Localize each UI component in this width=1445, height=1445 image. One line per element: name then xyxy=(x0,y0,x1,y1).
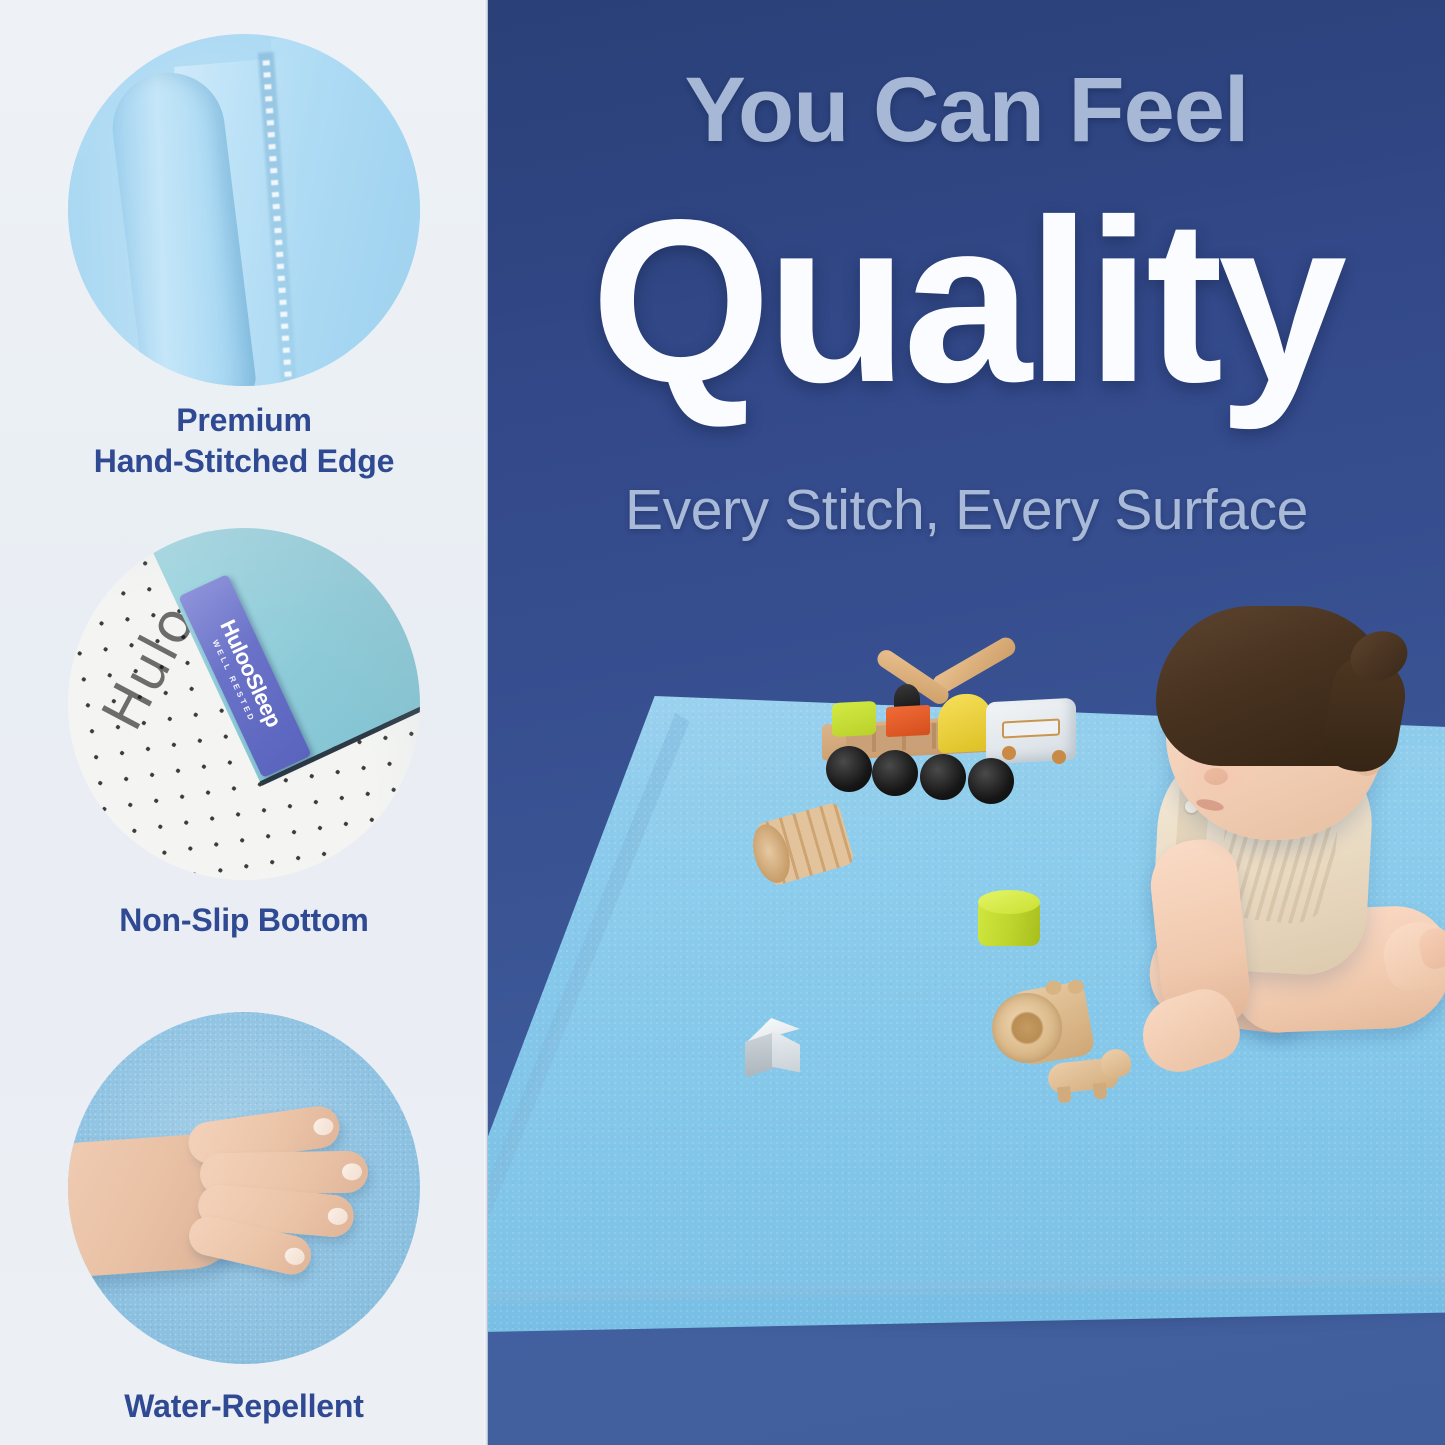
feature-caption-line-1: Non-Slip Bottom xyxy=(18,900,470,941)
hero-headline-line-2: Quality xyxy=(488,186,1445,418)
animal-leg xyxy=(1093,1082,1108,1099)
toddler-nose xyxy=(1204,768,1228,785)
orange-cargo-block xyxy=(886,705,930,737)
truck-wheel xyxy=(920,754,966,800)
truck-wheel xyxy=(826,746,872,792)
photo-vignette xyxy=(68,528,420,880)
animal-head xyxy=(1099,1048,1132,1079)
truck-wheel xyxy=(968,758,1014,804)
feature-caption: Water-Repellent xyxy=(0,1386,488,1427)
animal-leg xyxy=(1057,1086,1072,1103)
prism-left-face xyxy=(745,1032,775,1078)
hero-panel: You Can Feel Quality Every Stitch, Every… xyxy=(488,0,1445,1445)
feature-non-slip-bottom: HulooSl HulooSleep WELL RESTED Non-Slip … xyxy=(0,528,488,941)
prism-right-face xyxy=(772,1030,800,1076)
fingernail xyxy=(312,1117,334,1137)
truck-headlight-left xyxy=(1002,746,1016,760)
product-feature-image: Premium Hand-Stitched Edge HulooSl Huloo… xyxy=(0,0,1445,1445)
non-slip-bottom-photo: HulooSl HulooSleep WELL RESTED xyxy=(68,528,420,880)
fingernail xyxy=(342,1163,362,1180)
truck-wheel xyxy=(872,750,918,796)
feature-caption-line-1: Water-Repellent xyxy=(18,1386,470,1427)
stitched-edge-photo xyxy=(68,34,420,386)
feature-caption: Premium Hand-Stitched Edge xyxy=(0,400,488,482)
feature-caption-line-2: Hand-Stitched Edge xyxy=(18,441,470,482)
feature-water-repellent: Water-Repellent xyxy=(0,1012,488,1427)
water-repellent-photo xyxy=(68,1012,420,1364)
fingernail xyxy=(283,1245,306,1266)
feature-caption: Non-Slip Bottom xyxy=(0,900,488,941)
feature-caption-line-1: Premium xyxy=(18,400,470,441)
feature-column: Premium Hand-Stitched Edge HulooSl Huloo… xyxy=(0,0,488,1445)
excavator-yellow-pivot xyxy=(938,693,992,754)
fingernail xyxy=(327,1207,348,1226)
toy-white-triangle-block xyxy=(740,1018,800,1080)
hero-headline-line-1: You Can Feel xyxy=(488,64,1445,156)
toy-wooden-animal xyxy=(1046,1048,1135,1105)
product-scene xyxy=(488,600,1445,1445)
hero-subheadline: Every Stitch, Every Surface xyxy=(488,482,1445,539)
feature-premium-hand-stitched-edge: Premium Hand-Stitched Edge xyxy=(0,34,488,482)
green-cargo-cylinder xyxy=(832,701,876,737)
